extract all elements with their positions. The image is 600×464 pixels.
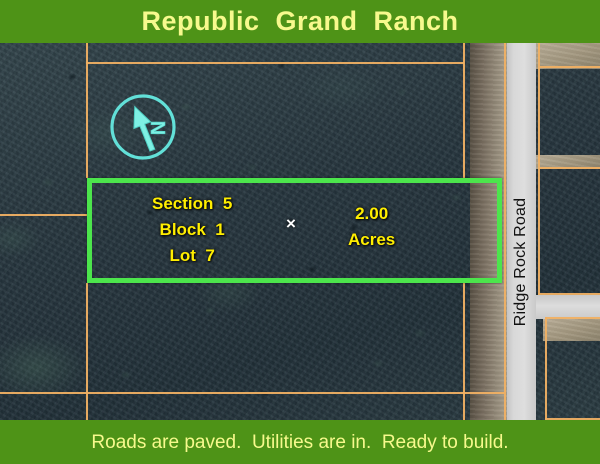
road-name-label: Ridge Rock Road — [507, 177, 536, 347]
parcel-line-vertical — [504, 43, 506, 420]
aerial-map: Section 5 Block 1 Lot 7 × 2.00 Acres Rid… — [0, 43, 600, 420]
lot-identification-label: Section 5 Block 1 Lot 7 — [152, 191, 232, 268]
cleared-pad-southeast — [543, 319, 600, 341]
compass-north-letter: N — [146, 121, 168, 135]
page-title: Republic Grand Ranch — [141, 8, 458, 35]
parcel-line-horizontal — [0, 214, 87, 216]
parcel-line-horizontal — [538, 167, 600, 169]
parcel-line-vertical — [538, 43, 540, 295]
side-road-surface — [536, 295, 600, 319]
parcel-line-vertical — [545, 317, 547, 420]
road-name-text: Ridge Rock Road — [513, 198, 531, 326]
listing-lot-map-image: Republic Grand Ranch — [0, 0, 600, 464]
lot-acreage-label: 2.00 Acres — [348, 201, 395, 253]
top-banner: Republic Grand Ranch — [0, 0, 600, 43]
parcel-line-horizontal — [86, 62, 464, 64]
north-arrow-icon: N — [108, 92, 178, 162]
svg-text:N: N — [146, 121, 168, 135]
parcel-line-horizontal — [538, 293, 600, 295]
parcel-line-vertical — [463, 283, 465, 420]
parcel-line-horizontal — [538, 66, 600, 68]
lot-center-marker-icon: × — [286, 215, 296, 232]
features-tagline: Roads are paved. Utilities are in. Ready… — [91, 433, 508, 452]
parcel-line-horizontal — [0, 392, 504, 394]
bottom-banner: Roads are paved. Utilities are in. Ready… — [0, 420, 600, 464]
parcel-line-vertical — [86, 283, 88, 420]
parcel-line-horizontal — [545, 317, 600, 319]
